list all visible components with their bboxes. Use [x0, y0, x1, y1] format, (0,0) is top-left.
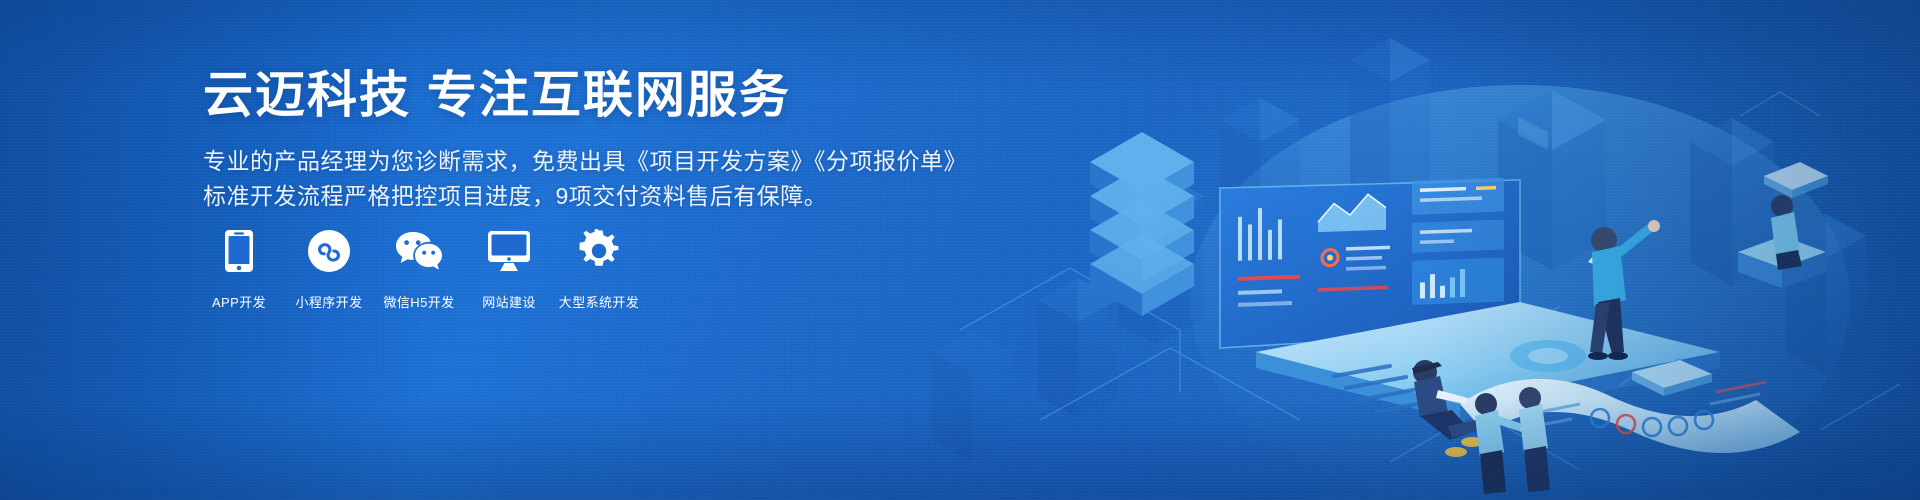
service-item-large-system[interactable]: 大型系统开发: [563, 228, 635, 311]
subtitle-line-1: 专业的产品经理为您诊断需求，免费出具《项目开发方案》《分项报价单》: [203, 144, 923, 179]
side-panel: [1764, 162, 1828, 198]
monitor-icon: [486, 228, 532, 274]
subtitle-line-2: 标准开发流程严格把控项目进度，9项交付资料售后有保障。: [203, 179, 923, 214]
person-seated: [1738, 195, 1826, 288]
city-buildings: [932, 38, 1866, 462]
service-label: 网站建设: [482, 292, 536, 311]
person-presenting: [1588, 220, 1660, 360]
banner-copy: 云迈科技 专注互联网服务 专业的产品经理为您诊断需求，免费出具《项目开发方案》《…: [203, 68, 923, 214]
service-label: 微信H5开发: [383, 292, 454, 311]
server-stack: [1090, 132, 1194, 316]
service-label: APP开发: [212, 292, 266, 311]
wechat-icon: [395, 228, 443, 274]
hero-banner: 云迈科技 专注互联网服务 专业的产品经理为您诊断需求，免费出具《项目开发方案》《…: [0, 0, 1920, 500]
service-item-website[interactable]: 网站建设: [473, 228, 545, 311]
person-with-laptop: [1412, 360, 1483, 457]
isometric-tech-illustration: [920, 0, 1920, 500]
page-title: 云迈科技 专注互联网服务: [203, 68, 923, 122]
data-ribbon: [1460, 360, 1800, 453]
service-item-mini-program[interactable]: 小程序开发: [293, 228, 365, 311]
mobile-phone-icon: [224, 228, 254, 274]
mini-program-icon: [307, 228, 351, 274]
tablet-platform: [1256, 302, 1720, 420]
dashboard-screen: [1220, 178, 1520, 348]
gear-icon: [577, 228, 621, 274]
circuit-lines: [960, 92, 1900, 470]
service-list: APP开发 小程序开发: [203, 228, 635, 311]
service-label: 小程序开发: [295, 292, 362, 311]
floating-card: [1632, 360, 1712, 396]
service-item-wechat-h5[interactable]: 微信H5开发: [383, 228, 455, 311]
person-pair: [1475, 387, 1550, 494]
service-label: 大型系统开发: [559, 292, 639, 311]
service-item-app[interactable]: APP开发: [203, 228, 275, 311]
